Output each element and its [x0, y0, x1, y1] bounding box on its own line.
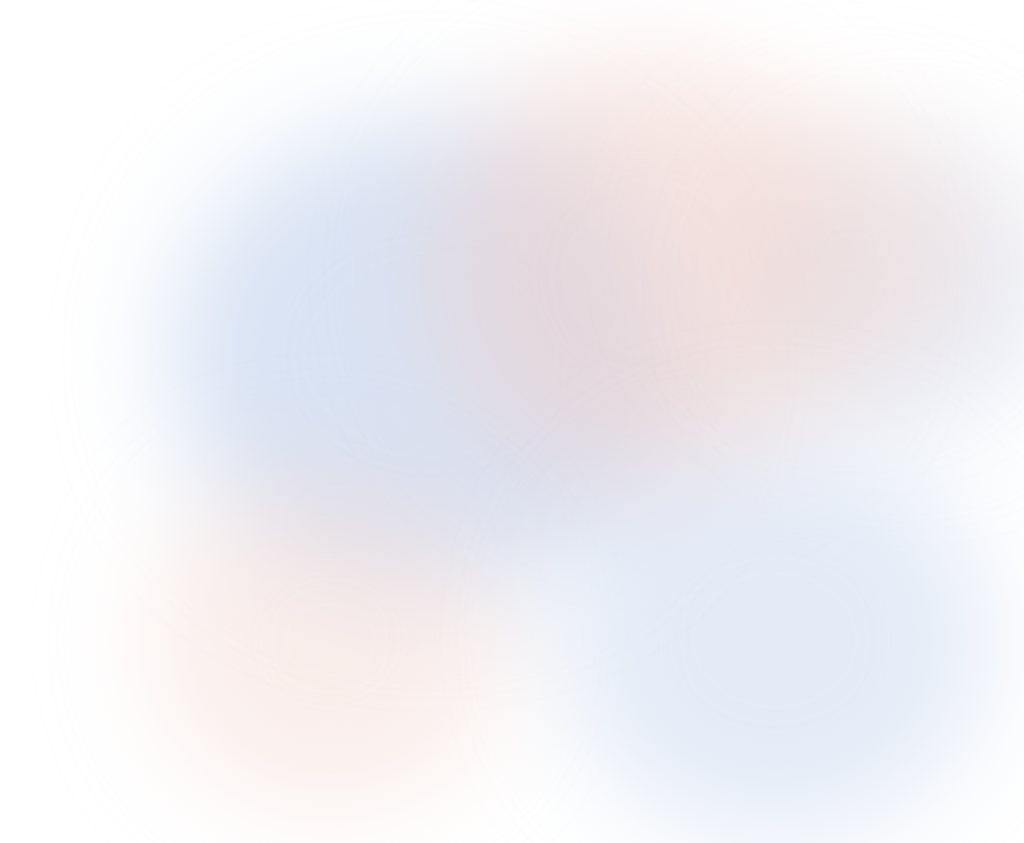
page-subtitle [0, 18, 1024, 28]
page-title [0, 0, 1024, 18]
infographic-sheet [0, 0, 1024, 843]
